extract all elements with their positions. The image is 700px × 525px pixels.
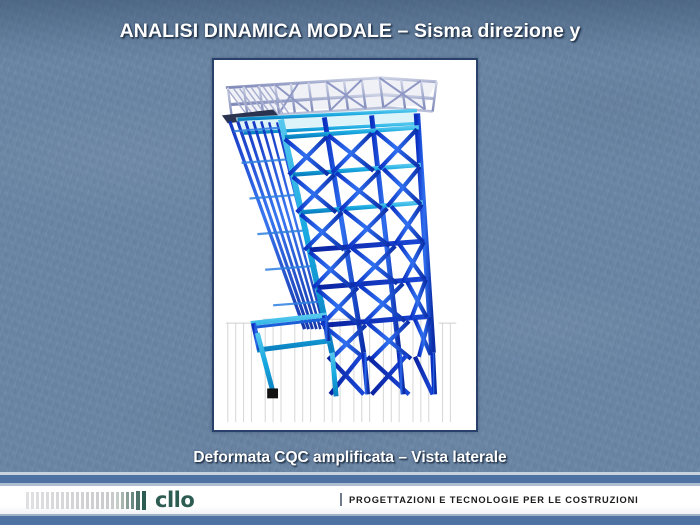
footer-tagline-group: PROGETTAZIONI E TECNOLOGIE PER LE COSTRU… [340,493,639,506]
figure-caption: Deformata CQC amplificata – Vista latera… [0,449,700,467]
structural-model-render [214,60,476,430]
footer-band-blue-lower [0,516,700,525]
logo-bar-icon [26,492,148,509]
footer-tagline: PROGETTAZIONI E TECNOLOGIE PER LE COSTRU… [349,495,639,505]
slide-title: ANALISI DINAMICA MODALE – Sisma direzion… [0,20,700,43]
company-logo: cllo [26,489,194,511]
support-node-marker [267,388,278,398]
figure-frame [212,58,478,432]
tagline-divider [340,493,342,506]
figure-panel [214,60,476,430]
footer-band-blue-upper [0,475,700,483]
logo-wordmark: cllo [155,490,194,511]
presentation-slide: ANALISI DINAMICA MODALE – Sisma direzion… [0,0,700,525]
slide-footer: cllo PROGETTAZIONI E TECNOLOGIE PER LE C… [0,472,700,525]
